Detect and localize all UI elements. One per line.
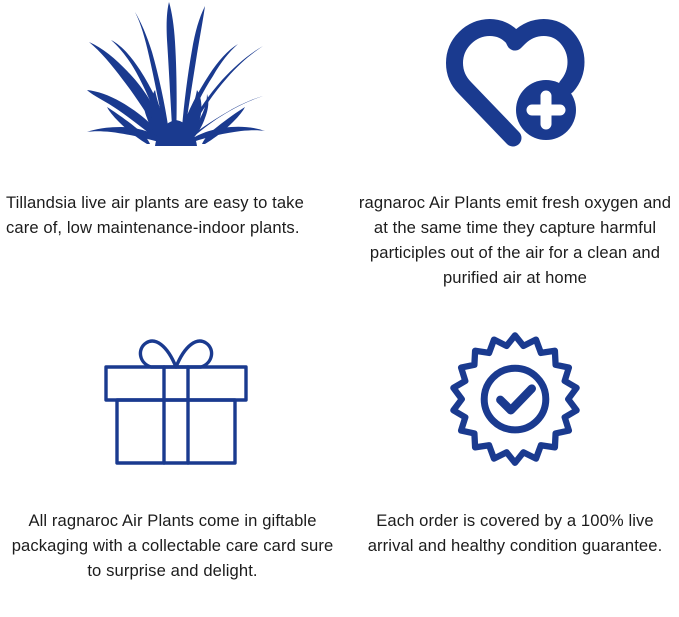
- gift-box-icon-area: [0, 308, 351, 508]
- feature-card-care: Tillandsia live air plants are easy to t…: [0, 0, 351, 308]
- gift-box-icon: [101, 323, 251, 468]
- heart-plus-icon-area: [351, 0, 679, 190]
- air-plant-icon-area: [0, 0, 351, 190]
- guarantee-badge-icon-area: [351, 308, 679, 508]
- feature-caption-care: Tillandsia live air plants are easy to t…: [0, 190, 345, 240]
- feature-card-guarantee: Each order is covered by a 100% live arr…: [351, 308, 679, 617]
- feature-caption-guarantee: Each order is covered by a 100% live arr…: [353, 508, 677, 558]
- feature-grid: Tillandsia live air plants are easy to t…: [0, 0, 679, 617]
- guarantee-badge-icon: [445, 326, 585, 468]
- feature-caption-oxygen: ragnaroc Air Plants emit fresh oxygen an…: [353, 190, 677, 290]
- feature-card-oxygen: ragnaroc Air Plants emit fresh oxygen an…: [351, 0, 679, 308]
- heart-plus-icon: [445, 18, 585, 148]
- air-plant-icon: [87, 0, 265, 148]
- feature-caption-packaging: All ragnaroc Air Plants come in giftable…: [0, 508, 345, 583]
- feature-card-packaging: All ragnaroc Air Plants come in giftable…: [0, 308, 351, 617]
